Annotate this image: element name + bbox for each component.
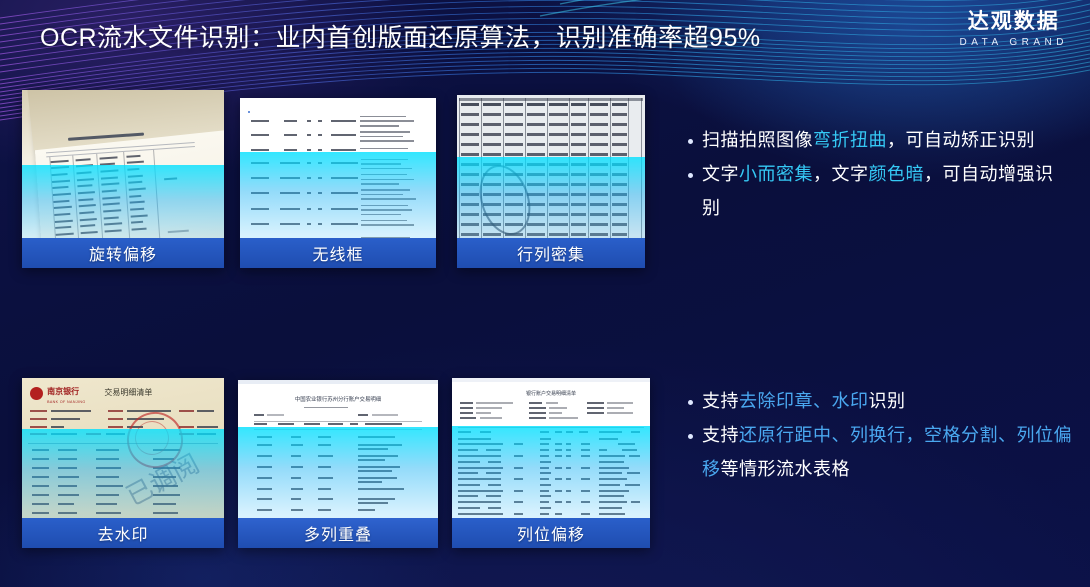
doc-title: 银行账户交易明细清单	[452, 390, 650, 397]
doc-title: 中国农业银行苏州分行账户交易明细	[238, 395, 438, 403]
card-caption: 行列密集	[457, 238, 645, 268]
bullet-text-segment: ，文字	[813, 164, 869, 185]
card-rotated-offset[interactable]: 旋转偏移	[22, 90, 224, 268]
card-remove-watermark[interactable]: 南京银行 BANK OF NANJING 交易明细清单	[22, 378, 224, 548]
brand-logo-en: DATA GRAND	[959, 37, 1068, 48]
bullet-text-segment: 弯折扭曲	[813, 130, 887, 151]
bullet-text-segment: 支持	[702, 391, 739, 412]
bullet-text-segment: 小而密集	[739, 164, 813, 185]
bullet-item: 扫描拍照图像弯折扭曲，可自动矫正识别	[686, 124, 1066, 158]
bullet-item: 支持还原行距中、列换行，空格分割、列位偏移等情形流水表格	[686, 419, 1076, 487]
bullet-text-segment: 支持	[702, 425, 739, 446]
card-caption: 去水印	[22, 518, 224, 548]
card-caption: 多列重叠	[238, 518, 438, 548]
bullet-item: 文字小而密集，文字颜色暗，可自动增强识别	[686, 158, 1066, 226]
card-multi-column-overlap[interactable]: 中国农业银行苏州分行账户交易明细 多列重叠	[238, 380, 438, 548]
brand-logo-cn: 达观数据	[959, 10, 1068, 33]
card-column-shift[interactable]: 银行账户交易明细清单	[452, 378, 650, 548]
card-caption: 旋转偏移	[22, 238, 224, 268]
bullet-text-segment: 去除印章、水印	[739, 391, 869, 412]
bullet-text-segment: 等情形流水表格	[721, 459, 851, 480]
bullet-text-segment: 文字	[702, 164, 739, 185]
bullet-group-bottom: 支持去除印章、水印识别 支持还原行距中、列换行，空格分割、列位偏移等情形流水表格	[686, 385, 1076, 487]
bullet-text-segment: 扫描拍照图像	[702, 130, 813, 151]
bullet-group-top: 扫描拍照图像弯折扭曲，可自动矫正识别 文字小而密集，文字颜色暗，可自动增强识别	[686, 124, 1066, 226]
doc-bank-name-cn: 南京银行	[47, 386, 79, 397]
doc-title: 交易明细清单	[104, 387, 152, 398]
card-caption: 无线框	[240, 238, 436, 268]
card-caption: 列位偏移	[452, 518, 650, 548]
brand-logo: 达观数据 DATA GRAND	[959, 10, 1068, 48]
bullet-text-segment: ，可自动矫正识别	[887, 130, 1035, 151]
page-title: OCR流水文件识别：业内首创版面还原算法，识别准确率超95%	[40, 18, 761, 54]
bullet-text-segment: 颜色暗	[869, 164, 925, 185]
slide-canvas: OCR流水文件识别：业内首创版面还原算法，识别准确率超95% 达观数据 DATA…	[0, 0, 1090, 587]
bullet-text-segment: 识别	[869, 391, 906, 412]
card-dense-grid[interactable]: 行列密集	[457, 95, 645, 268]
bullet-item: 支持去除印章、水印识别	[686, 385, 1076, 419]
card-borderless[interactable]: 无线框	[240, 98, 436, 268]
doc-bank-name-en: BANK OF NANJING	[47, 400, 86, 404]
